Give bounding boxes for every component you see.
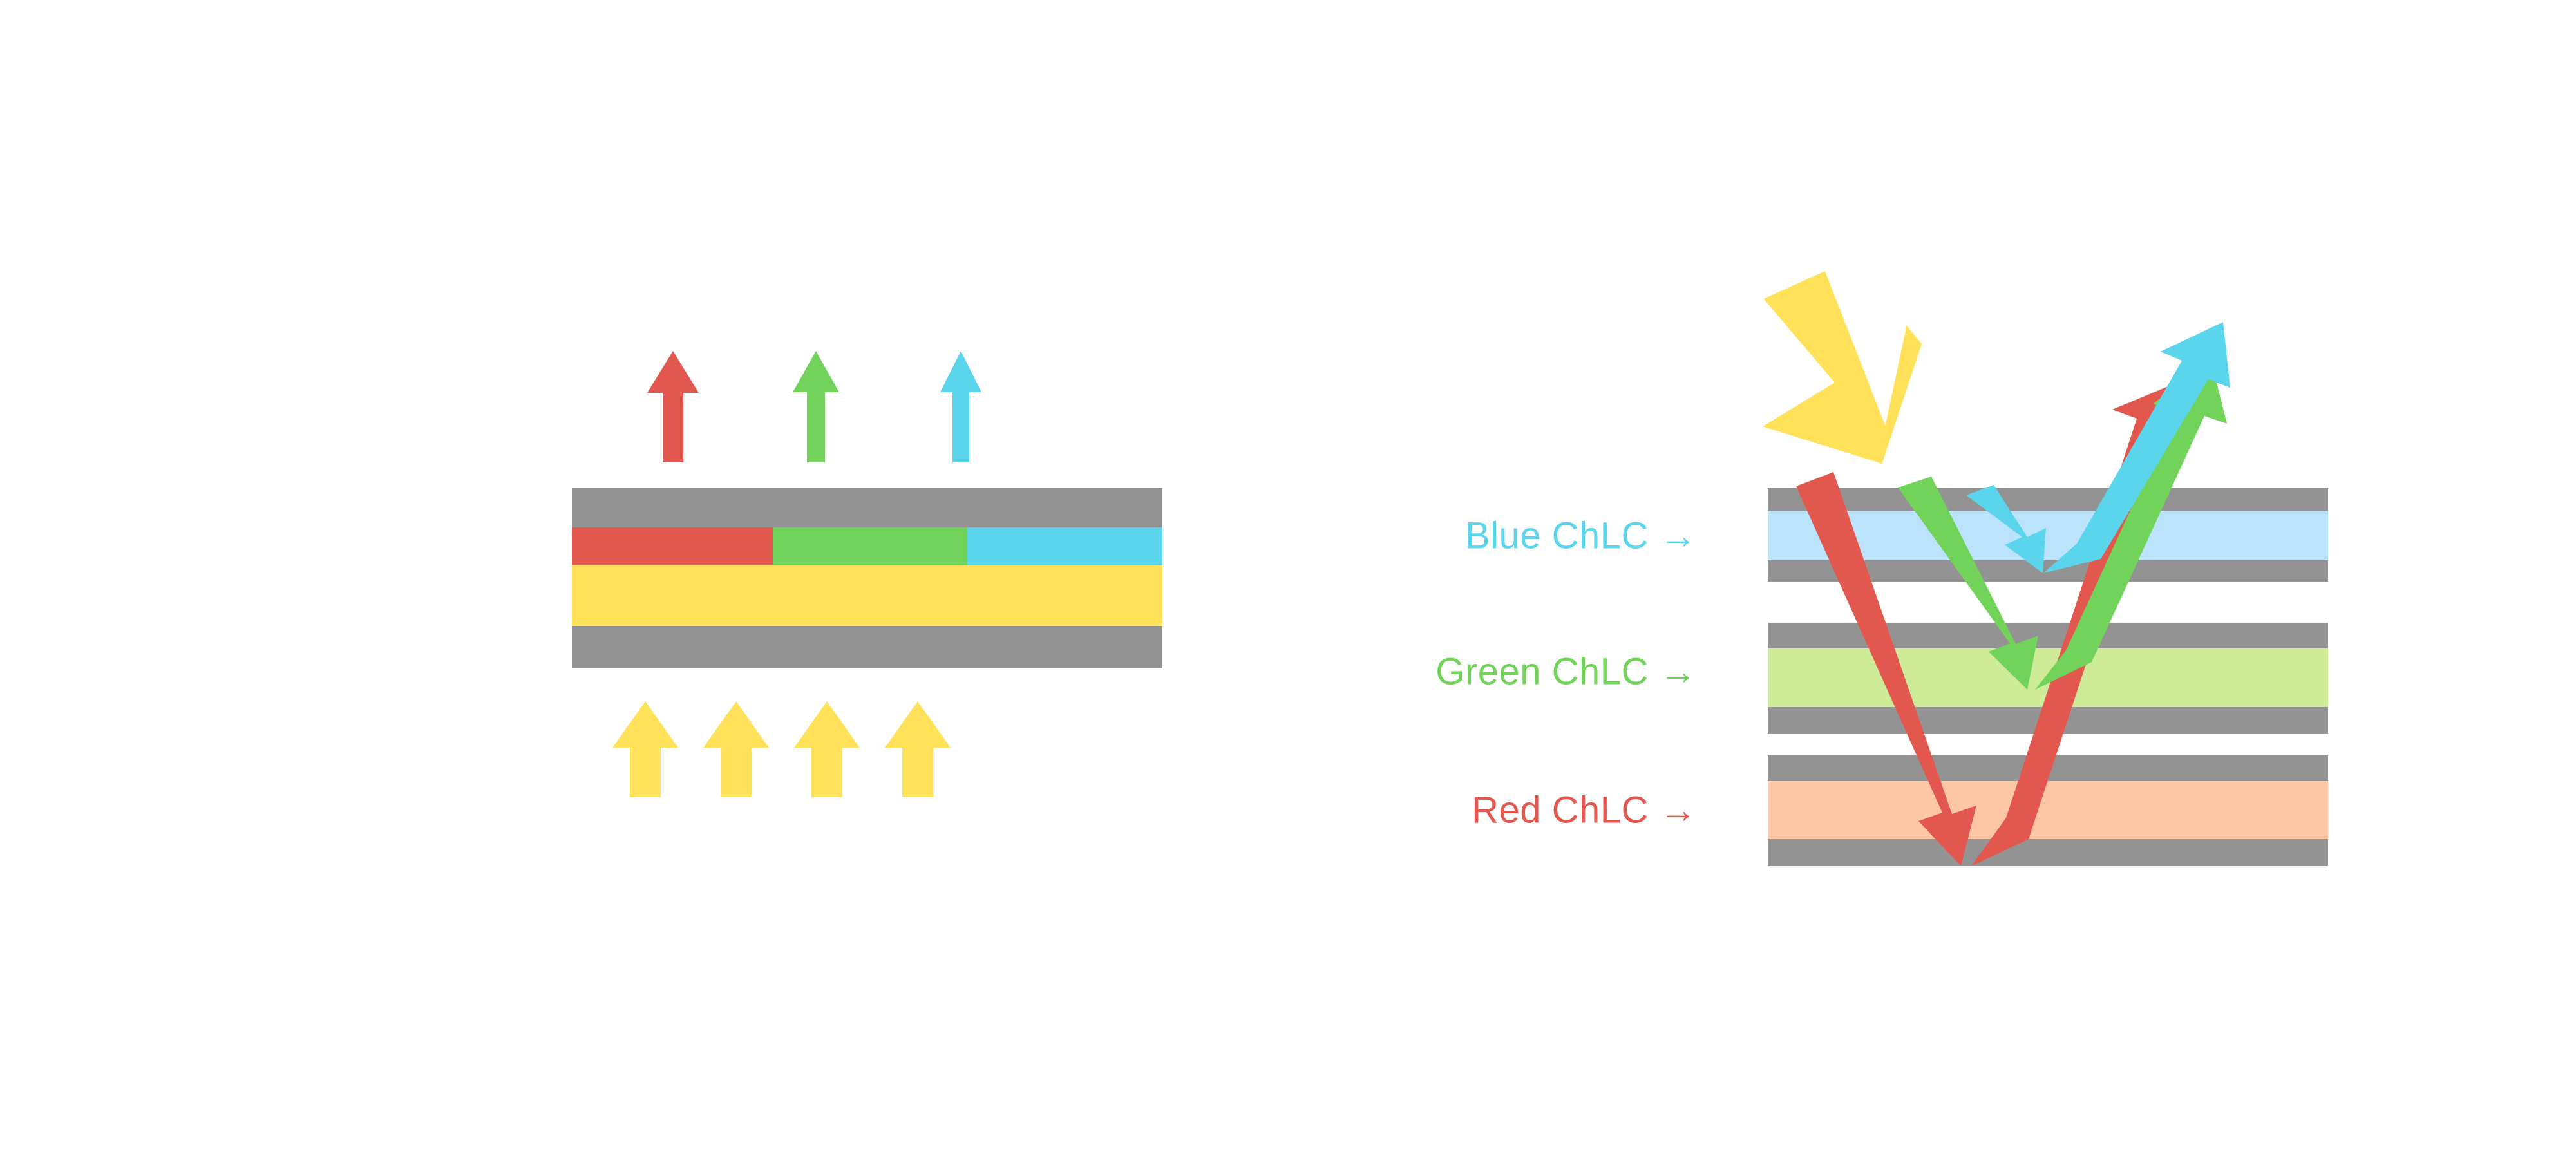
- left-backlight-layer: [572, 565, 1162, 626]
- label-red-chlc: Red ChLC →: [1385, 789, 1697, 832]
- emitted-blue-arrow: [940, 351, 981, 462]
- incident-light-arrow: [1756, 268, 1926, 466]
- left-top-electrode: [572, 488, 1162, 527]
- label-green-chlc-text: Green ChLC: [1435, 651, 1649, 693]
- left-panel: [572, 351, 1162, 797]
- green-segment: [773, 527, 967, 565]
- red-chlc-layer: [1768, 781, 2328, 839]
- label-blue-chlc-arrow-icon: →: [1660, 515, 1698, 557]
- emitted-red-arrow: [647, 351, 699, 462]
- blue-segment: [967, 527, 1162, 565]
- left-bottom-electrode: [572, 626, 1162, 668]
- label-red-chlc-text: Red ChLC: [1472, 790, 1649, 831]
- label-green-chlc-arrow-icon: →: [1660, 651, 1698, 693]
- blue-cell-top-electrode: [1768, 488, 2328, 511]
- backlight-arrow-1: [612, 701, 678, 797]
- green-cell-top-electrode: [1768, 623, 2328, 648]
- diagram-svg: [0, 0, 2576, 1154]
- backlight-arrows: [612, 701, 951, 797]
- right-panel: [1756, 268, 2328, 866]
- label-green-chlc: Green ChLC →: [1385, 650, 1697, 694]
- diagram-canvas: Blue ChLC → Green ChLC → Red ChLC →: [0, 0, 2576, 1154]
- left-pixel-row: [572, 527, 1162, 565]
- label-blue-chlc-text: Blue ChLC: [1465, 515, 1649, 557]
- label-red-chlc-arrow-icon: →: [1660, 790, 1698, 831]
- backlight-arrow-3: [794, 701, 860, 797]
- backlight-arrow-2: [703, 701, 769, 797]
- red-segment: [572, 527, 773, 565]
- label-blue-chlc: Blue ChLC →: [1385, 515, 1697, 558]
- backlight-arrow-4: [885, 701, 951, 797]
- emitted-green-arrow: [793, 351, 839, 462]
- red-cell-bottom-electrode: [1768, 839, 2328, 866]
